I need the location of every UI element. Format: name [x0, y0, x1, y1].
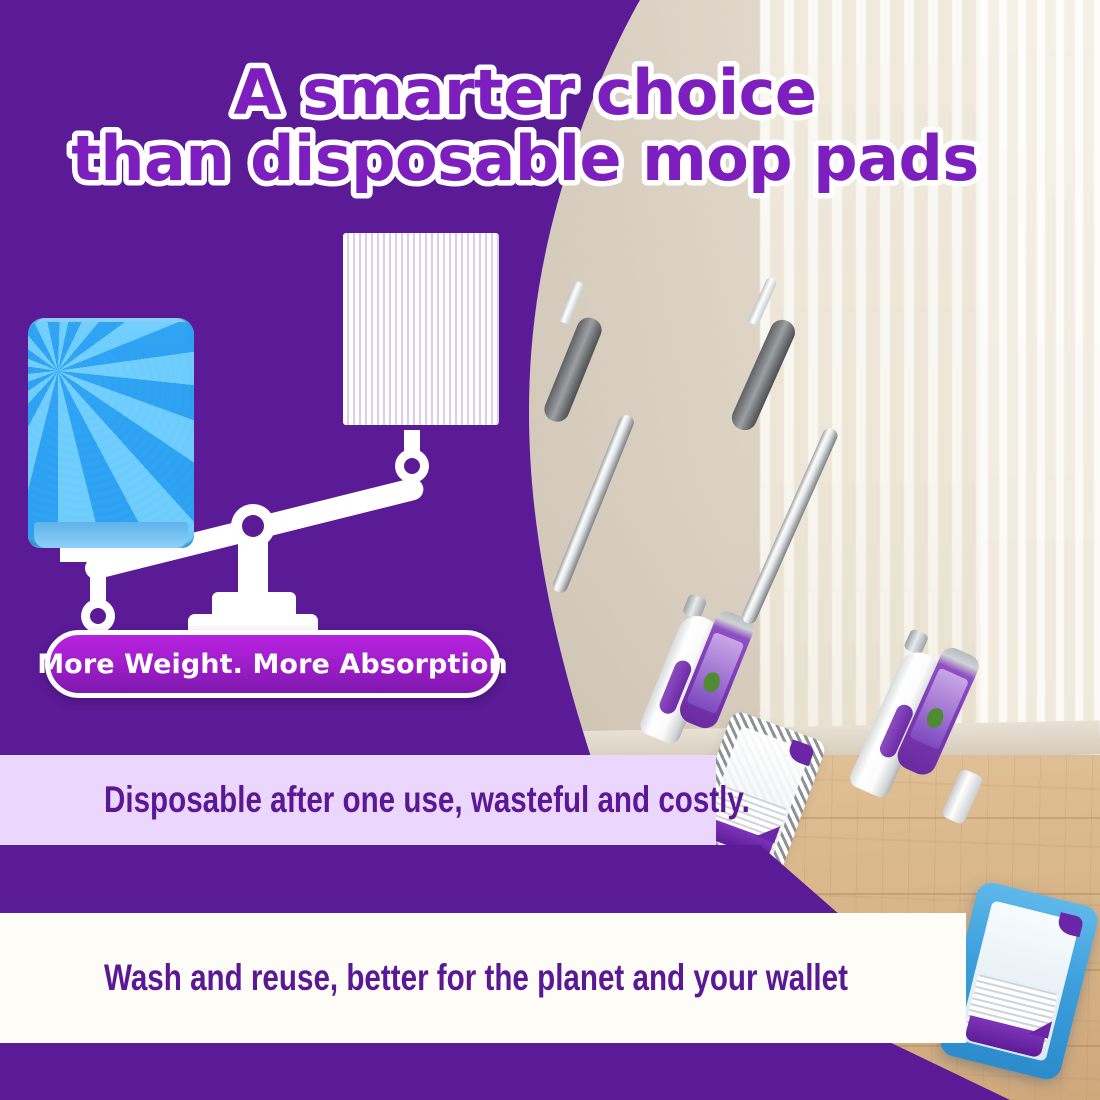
reusable-message-band: Wash and reuse, better for the planet an… [0, 913, 966, 1043]
headline-line-1: A smarter choice [234, 56, 817, 129]
headline-line-2: than disposable mop pads [71, 122, 979, 195]
disposable-message-text: Disposable after one use, wasteful and c… [104, 779, 750, 821]
reusable-message-text: Wash and reuse, better for the planet an… [104, 957, 848, 999]
headline-svg: A smarter choice than disposable mop pad… [0, 52, 1050, 212]
status-badge: More Weight. More Absorption [45, 630, 500, 698]
disposable-pad-graphic [345, 236, 497, 422]
product-infographic: A smarter choice than disposable mop pad… [0, 0, 1100, 1100]
mop-right [740, 268, 1040, 968]
disposable-message-band: Disposable after one use, wasteful and c… [0, 755, 716, 845]
purple-divider-band [0, 845, 840, 915]
page-title: A smarter choice than disposable mop pad… [0, 52, 1050, 214]
badge-label: More Weight. More Absorption [37, 649, 508, 680]
reusable-pad-graphic [28, 318, 194, 548]
